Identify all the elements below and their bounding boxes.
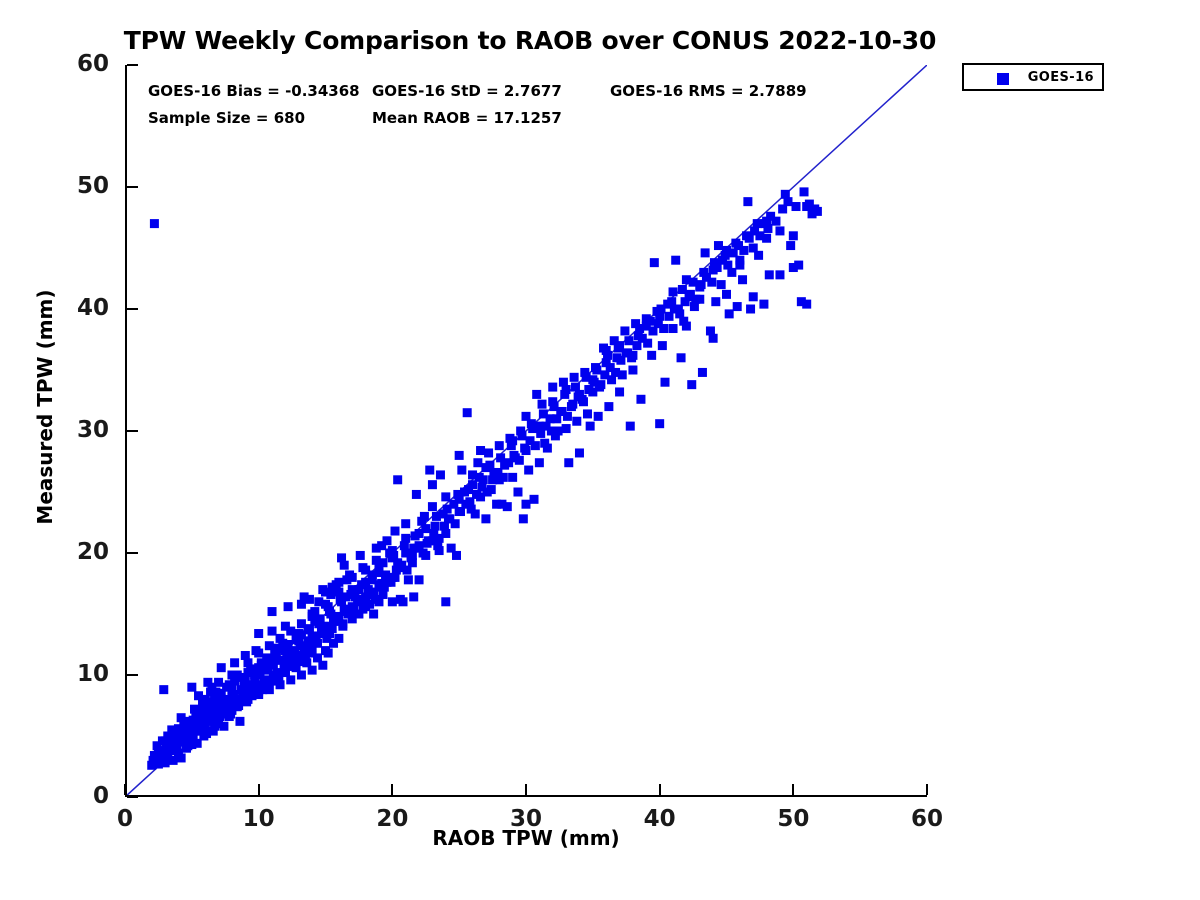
data-point [485, 461, 494, 470]
data-point [571, 383, 580, 392]
data-point [669, 287, 678, 296]
data-point [582, 373, 591, 382]
data-point [391, 527, 400, 536]
data-point [265, 641, 274, 650]
data-point [159, 685, 168, 694]
data-point [207, 710, 216, 719]
data-point [254, 629, 263, 638]
data-point [759, 300, 768, 309]
y-tick-label-60: 60 [29, 53, 109, 76]
data-point [441, 492, 450, 501]
data-point [377, 541, 386, 550]
data-point [538, 400, 547, 409]
data-point [419, 549, 428, 558]
data-point [428, 480, 437, 489]
data-point [484, 448, 493, 457]
data-point [342, 575, 351, 584]
data-point [721, 251, 730, 260]
data-point [677, 353, 686, 362]
data-point [268, 607, 277, 616]
data-point [250, 671, 259, 680]
data-point [251, 646, 260, 655]
data-point [563, 412, 572, 421]
data-point [356, 551, 365, 560]
data-point [711, 297, 720, 306]
data-point [239, 680, 248, 689]
data-point [435, 534, 444, 543]
data-point [358, 563, 367, 572]
plot-area: 0102030405060 0102030405060 [125, 65, 927, 797]
data-point [415, 575, 424, 584]
data-point [325, 607, 334, 616]
data-point [400, 541, 409, 550]
x-tick-20 [391, 784, 393, 795]
data-point [548, 383, 557, 392]
data-point [522, 412, 531, 421]
data-point [481, 514, 490, 523]
data-point [507, 441, 516, 450]
data-point [432, 512, 441, 521]
data-point [743, 197, 752, 206]
data-point [717, 280, 726, 289]
data-point [583, 409, 592, 418]
data-point [646, 317, 655, 326]
data-point [611, 368, 620, 377]
data-point [789, 231, 798, 240]
data-point [197, 717, 206, 726]
data-point [655, 419, 664, 428]
data-point [286, 675, 295, 684]
data-point [457, 466, 466, 475]
data-point [187, 683, 196, 692]
data-point [453, 490, 462, 499]
data-point [150, 219, 159, 228]
data-point [707, 278, 716, 287]
data-point [765, 270, 774, 279]
data-point [528, 424, 537, 433]
data-point [258, 685, 267, 694]
data-point [496, 453, 505, 462]
data-point [464, 485, 473, 494]
data-point [755, 231, 764, 240]
data-point [592, 366, 601, 375]
x-tick-50 [792, 784, 794, 795]
data-point [813, 207, 822, 216]
data-point [211, 688, 220, 697]
data-point [284, 602, 293, 611]
data-point [235, 717, 244, 726]
data-point [186, 724, 195, 733]
data-point [473, 458, 482, 467]
data-point [513, 488, 522, 497]
data-point [403, 566, 412, 575]
data-point [626, 422, 635, 431]
data-point [389, 551, 398, 560]
data-point [322, 634, 331, 643]
data-point [572, 417, 581, 426]
data-point [519, 514, 528, 523]
data-point [321, 646, 330, 655]
data-point [698, 368, 707, 377]
legend-box[interactable]: GOES-16 [962, 63, 1104, 91]
data-point [242, 697, 251, 706]
data-point [560, 390, 569, 399]
data-point [603, 351, 612, 360]
data-point [300, 592, 309, 601]
data-point [503, 502, 512, 511]
y-tick-0 [127, 796, 138, 798]
x-tick-10 [258, 784, 260, 795]
data-point [515, 456, 524, 465]
data-point [443, 505, 452, 514]
data-point [508, 473, 517, 482]
data-point [624, 336, 633, 345]
data-point [650, 258, 659, 267]
data-point [564, 458, 573, 467]
data-point [691, 295, 700, 304]
data-point [524, 466, 533, 475]
y-tick-50 [127, 186, 138, 188]
data-point [723, 261, 732, 270]
data-point [304, 624, 313, 633]
data-point [531, 441, 540, 450]
data-point [290, 661, 299, 670]
data-point [647, 351, 656, 360]
data-point [219, 722, 228, 731]
data-point [594, 412, 603, 421]
series-goes16-points [147, 187, 822, 769]
x-axis-line [125, 795, 927, 797]
data-point [412, 490, 421, 499]
data-point [635, 324, 644, 333]
y-tick-label-10: 10 [29, 663, 109, 686]
data-point [274, 673, 283, 682]
data-point [165, 742, 174, 751]
data-point [499, 473, 508, 482]
data-point [735, 261, 744, 270]
data-point [261, 663, 270, 672]
data-point [409, 592, 418, 601]
data-point [203, 678, 212, 687]
data-point [495, 441, 504, 450]
data-point [699, 268, 708, 277]
data-point [733, 302, 742, 311]
data-point [522, 500, 531, 509]
data-point [492, 500, 501, 509]
data-point [230, 658, 239, 667]
data-point [661, 378, 670, 387]
data-point [669, 324, 678, 333]
data-point [749, 292, 758, 301]
data-point [308, 666, 317, 675]
data-point [615, 387, 624, 396]
data-point [306, 649, 315, 658]
data-point [210, 722, 219, 731]
data-point [547, 427, 556, 436]
data-point [710, 258, 719, 267]
data-point [543, 444, 552, 453]
data-point [530, 495, 539, 504]
data-point [620, 326, 629, 335]
data-point [314, 619, 323, 628]
data-point [368, 570, 377, 579]
data-point [749, 244, 758, 253]
data-point [370, 595, 379, 604]
data-point [709, 334, 718, 343]
page-title: TPW Weekly Comparison to RAOB over CONUS… [0, 26, 1060, 55]
data-point [517, 431, 526, 440]
data-point [800, 187, 809, 196]
data-point [154, 749, 163, 758]
data-point [346, 590, 355, 599]
y-tick-10 [127, 674, 138, 676]
data-point [441, 597, 450, 606]
data-point [657, 305, 666, 314]
data-point [658, 341, 667, 350]
data-point [378, 558, 387, 567]
data-point [218, 697, 227, 706]
y-tick-60 [127, 64, 138, 66]
data-point [671, 256, 680, 265]
data-point [396, 595, 405, 604]
data-point [586, 422, 595, 431]
data-point [183, 741, 192, 750]
data-point [570, 373, 579, 382]
data-point [318, 661, 327, 670]
y-axis-label: Measured TPW (mm) [33, 157, 57, 657]
data-point [714, 241, 723, 250]
data-point [746, 305, 755, 314]
data-point [354, 610, 363, 619]
data-point [369, 610, 378, 619]
legend-marker-goes16-icon [997, 73, 1009, 85]
x-axis-label: RAOB TPW (mm) [125, 826, 927, 850]
data-point [452, 551, 461, 560]
data-point [229, 690, 238, 699]
data-point [675, 309, 684, 318]
data-point [411, 531, 420, 540]
data-point [775, 226, 784, 235]
data-point [722, 290, 731, 299]
scatter-plot-figure: TPW Weekly Comparison to RAOB over CONUS… [0, 0, 1200, 900]
data-point [794, 261, 803, 270]
data-point [318, 585, 327, 594]
data-point [425, 466, 434, 475]
data-point [393, 475, 402, 484]
data-point [742, 231, 751, 240]
data-point [401, 519, 410, 528]
data-point [388, 597, 397, 606]
scatter-canvas [125, 65, 927, 797]
y-tick-20 [127, 552, 138, 554]
data-point [226, 710, 235, 719]
x-tick-0 [124, 784, 126, 795]
data-point [282, 644, 291, 653]
data-point [233, 671, 242, 680]
data-point [687, 380, 696, 389]
data-point [268, 627, 277, 636]
data-point [420, 512, 429, 521]
legend-label-goes16: GOES-16 [1028, 70, 1094, 85]
y-tick-30 [127, 430, 138, 432]
data-point [272, 653, 281, 662]
x-tick-30 [525, 784, 527, 795]
data-point [539, 409, 548, 418]
data-point [786, 241, 795, 250]
data-point [805, 200, 814, 209]
data-point [753, 219, 762, 228]
data-point [678, 285, 687, 294]
data-point [689, 278, 698, 287]
data-point [628, 366, 637, 375]
data-point [550, 402, 559, 411]
data-point [604, 402, 613, 411]
data-point [682, 322, 691, 331]
data-point [217, 663, 226, 672]
data-point [725, 309, 734, 318]
data-point [575, 448, 584, 457]
data-point [659, 324, 668, 333]
data-point [404, 575, 413, 584]
data-point [451, 519, 460, 528]
data-point [792, 202, 801, 211]
data-point [667, 297, 676, 306]
y-tick-40 [127, 308, 138, 310]
data-point [199, 732, 208, 741]
data-point [802, 300, 811, 309]
data-point [532, 390, 541, 399]
data-point [763, 224, 772, 233]
data-point [455, 451, 464, 460]
data-point [627, 353, 636, 362]
data-point [467, 505, 476, 514]
data-point [297, 671, 306, 680]
y-tick-label-0: 0 [29, 785, 109, 808]
data-point [463, 408, 472, 417]
data-point [475, 473, 484, 482]
data-point [214, 678, 223, 687]
data-point [293, 634, 302, 643]
data-point [771, 217, 780, 226]
data-point [357, 580, 366, 589]
data-point [483, 488, 492, 497]
data-point [198, 700, 207, 709]
data-point [701, 248, 710, 257]
data-point [614, 344, 623, 353]
data-point [579, 397, 588, 406]
data-point [476, 446, 485, 455]
data-point [386, 578, 395, 587]
data-point [337, 553, 346, 562]
data-point [421, 524, 430, 533]
data-point [595, 383, 604, 392]
data-point [175, 734, 184, 743]
data-point [731, 239, 740, 248]
data-point [336, 595, 345, 604]
data-point [338, 622, 347, 631]
data-point [636, 395, 645, 404]
data-point [436, 470, 445, 479]
data-point [428, 502, 437, 511]
data-point [775, 270, 784, 279]
x-tick-40 [659, 784, 661, 795]
data-point [535, 458, 544, 467]
data-point [739, 246, 748, 255]
data-point [562, 424, 571, 433]
data-point [738, 275, 747, 284]
data-point [643, 339, 652, 348]
data-point [326, 590, 335, 599]
x-tick-60 [926, 784, 928, 795]
data-point [783, 197, 792, 206]
